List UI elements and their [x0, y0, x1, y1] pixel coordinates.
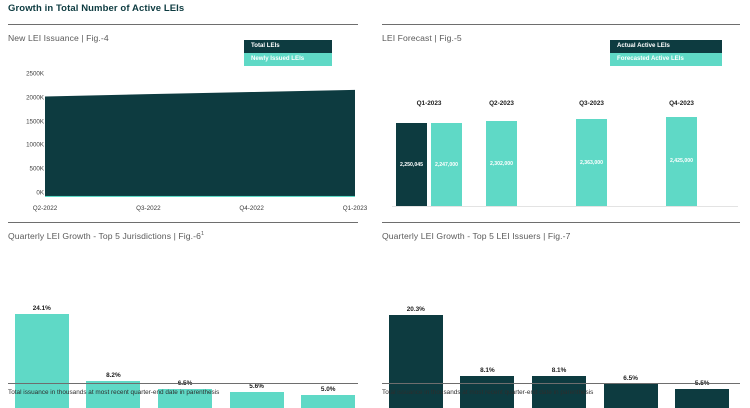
footnote-jurisdictions: Total issuance in thousands at most rece… — [8, 389, 219, 396]
legend-issuance: Total LEIs Newly Issued LEIs — [244, 40, 332, 66]
panel-divider — [382, 222, 740, 223]
bar-value-label: 2,247,000 — [431, 162, 462, 168]
area-chart-fig4 — [45, 74, 355, 197]
panel-lei-forecast: LEI Forecast | Fig.-5 Actual Active LEIs… — [374, 24, 750, 210]
panel-new-lei-issuance: New LEI Issuance | Fig.-4 Total LEIs New… — [0, 24, 368, 210]
bar-value-label: 2,250,045 — [396, 162, 427, 168]
y-tick-label: 0K — [36, 190, 44, 197]
x-tick-label: Q2-2022 — [33, 205, 58, 212]
panel-title-forecast: LEI Forecast | Fig.-5 — [382, 33, 462, 43]
y-tick-label: 1500K — [26, 118, 44, 125]
x-axis-labels-fig4: Q2-2022Q3-2022Q4-2022Q1-2023 — [30, 205, 360, 217]
bar — [301, 395, 355, 408]
bar-chart-fig7: 20.3%SACB /Moarif (2)8.1%KELER (7)8.1%Ub… — [380, 256, 738, 382]
area-chart-svg — [45, 74, 355, 197]
bar-value-label: 2,425,000 — [666, 158, 697, 164]
panel-title-issuers: Quarterly LEI Growth - Top 5 LEI Issuers… — [382, 231, 570, 241]
panel-divider — [8, 222, 358, 223]
bar-value-label: 5.0% — [321, 386, 336, 393]
bar-value-label: 8.2% — [106, 372, 121, 379]
panel-top-issuers: Quarterly LEI Growth - Top 5 LEI Issuers… — [374, 222, 750, 408]
x-tick-label: Q4-2023 — [669, 100, 694, 107]
footnote-divider — [382, 383, 740, 384]
bar-value-label: 2,363,000 — [576, 160, 607, 166]
x-tick-label: Q2-2023 — [489, 100, 514, 107]
bar: 2,425,000 — [666, 117, 697, 206]
x-tick-label: Q1-2023 — [343, 205, 368, 212]
bar-value-label: 8.1% — [552, 367, 567, 374]
bar — [604, 384, 658, 408]
panel-title-issuance: New LEI Issuance | Fig.-4 — [8, 33, 109, 43]
bar-value-label: 6.5% — [623, 375, 638, 382]
legend-item-forecasted-active-leis: Forecasted Active LEIs — [610, 53, 722, 66]
page-title: Growth in Total Number of Active LEIs — [8, 3, 184, 14]
x-tick-label: Q4-2022 — [239, 205, 264, 212]
panel-top-jurisdictions: Quarterly LEI Growth - Top 5 Jurisdictio… — [0, 222, 368, 408]
y-axis-labels-fig4: 0K500K1000K1500K2000K2500K — [8, 70, 44, 198]
panel-title-text: Quarterly LEI Growth - Top 5 Jurisdictio… — [8, 231, 201, 241]
baseline — [392, 206, 738, 207]
report-page: Growth in Total Number of Active LEIs Ne… — [0, 0, 750, 408]
bar-value-label: 5.6% — [249, 383, 264, 390]
panel-divider — [8, 24, 358, 25]
legend-item-newly-issued-leis: Newly Issued LEIs — [244, 53, 332, 66]
bar — [230, 392, 284, 408]
bar — [675, 389, 729, 408]
y-tick-label: 2500K — [26, 71, 44, 78]
legend-item-total-leis: Total LEIs — [244, 40, 332, 53]
bar-value-label: 8.1% — [480, 367, 495, 374]
bar-chart-fig6: 24.1%Saudi Arabia (3)8.2%India (118)6.5%… — [6, 256, 364, 382]
panel-title-jurisdictions: Quarterly LEI Growth - Top 5 Jurisdictio… — [8, 231, 204, 241]
x-tick-label: Q1-2023 — [417, 100, 442, 107]
panel-divider — [382, 24, 740, 25]
x-tick-label: Q3-2022 — [136, 205, 161, 212]
bar: 2,247,000 — [431, 123, 462, 206]
bar-value-label: 24.1% — [33, 305, 51, 312]
bar-chart-fig5: Q1-20232,250,0452,247,000Q2-20232,302,00… — [382, 90, 742, 216]
legend-item-actual-active-leis: Actual Active LEIs — [610, 40, 722, 53]
legend-forecast: Actual Active LEIs Forecasted Active LEI… — [610, 40, 722, 66]
y-tick-label: 500K — [30, 166, 44, 173]
footnote-issuers: Total issuance in thousands at most rece… — [382, 389, 593, 396]
footnote-divider — [8, 383, 358, 384]
footnote-marker: 1 — [201, 231, 204, 237]
bar: 2,363,000 — [576, 119, 607, 206]
bar: 2,250,045 — [396, 123, 427, 206]
bar: 2,302,000 — [486, 121, 517, 206]
y-tick-label: 2000K — [26, 94, 44, 101]
y-tick-label: 1000K — [26, 142, 44, 149]
x-tick-label: Q3-2023 — [579, 100, 604, 107]
bar-value-label: 2,302,000 — [486, 161, 517, 167]
bar-value-label: 20.3% — [407, 306, 425, 313]
